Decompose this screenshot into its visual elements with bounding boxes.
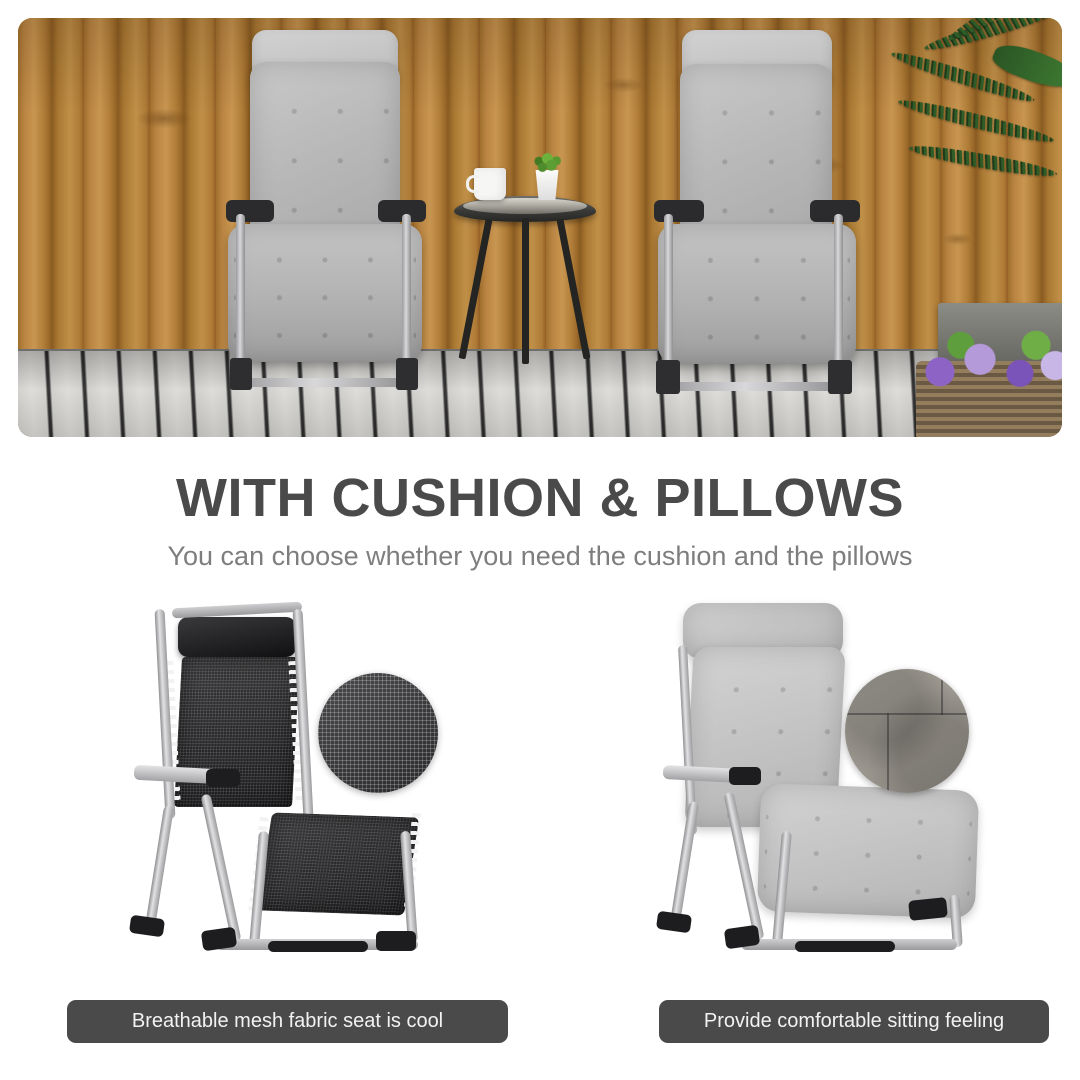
mesh-foot-right bbox=[376, 931, 416, 951]
detail-seam-vertical bbox=[887, 713, 889, 793]
caption-mesh: Breathable mesh fabric seat is cool bbox=[67, 1000, 508, 1043]
mesh-base-grip bbox=[268, 941, 368, 952]
hero-right-foot-right bbox=[828, 360, 852, 394]
hero-product-photo bbox=[18, 18, 1062, 437]
cushion-armrest-cap bbox=[729, 767, 761, 785]
mesh-leg-front bbox=[144, 805, 174, 935]
bistro-table bbox=[454, 196, 596, 368]
hero-left-frame-base bbox=[236, 378, 412, 387]
feature-panel-cushion bbox=[655, 595, 1080, 990]
detail-seam-horizontal bbox=[845, 713, 969, 715]
mesh-headrest-pillow bbox=[178, 617, 296, 657]
white-mug bbox=[474, 168, 506, 200]
cushion-fabric-detail-circle bbox=[845, 669, 969, 793]
hero-right-armrest bbox=[654, 200, 704, 222]
tufting-pattern-seat bbox=[763, 789, 973, 912]
table-leg-left bbox=[459, 219, 493, 360]
purple-flowers bbox=[908, 325, 1062, 403]
caption-mesh-label: Breathable mesh fabric seat is cool bbox=[132, 1010, 443, 1033]
hero-left-foot-left bbox=[230, 358, 252, 390]
hero-right-frame-base bbox=[664, 382, 844, 391]
mesh-seat-fabric bbox=[257, 812, 420, 915]
tufting-pattern-seat bbox=[234, 230, 416, 356]
detail-seam-vertical-2 bbox=[941, 669, 943, 715]
hero-left-foot-right bbox=[396, 358, 418, 390]
hero-left-recliner bbox=[206, 28, 436, 398]
mesh-leg-rear bbox=[201, 794, 242, 943]
page-subtitle: You can choose whether you need the cush… bbox=[0, 541, 1080, 572]
succulent-plant bbox=[534, 152, 562, 174]
hero-right-seat-cushion bbox=[658, 224, 856, 364]
hero-left-armrest bbox=[226, 200, 274, 222]
mesh-armrest-cap bbox=[206, 769, 240, 787]
caption-cushion-label: Provide comfortable sitting feeling bbox=[704, 1010, 1004, 1033]
hero-right-foot-left bbox=[656, 360, 680, 394]
tufting-pattern-seat bbox=[664, 230, 850, 358]
cushion-leg-front bbox=[669, 801, 699, 931]
hero-left-seat-cushion bbox=[228, 224, 422, 362]
mesh-recliner-illustration bbox=[120, 595, 570, 990]
hero-right-recliner bbox=[636, 28, 866, 398]
cushion-foot-left bbox=[656, 911, 692, 934]
cushion-recliner-illustration bbox=[655, 595, 1080, 990]
feature-panel-mesh bbox=[120, 595, 570, 990]
mesh-top-frame bbox=[172, 602, 302, 619]
cushion-foot-right bbox=[908, 897, 948, 921]
cushion-base-grip bbox=[795, 941, 895, 952]
table-leg-right bbox=[557, 219, 591, 360]
mesh-fabric-detail-circle bbox=[318, 673, 438, 793]
mesh-foot-left bbox=[129, 915, 165, 938]
table-glass-surface bbox=[463, 198, 588, 214]
caption-cushion: Provide comfortable sitting feeling bbox=[659, 1000, 1049, 1043]
headline-block: WITH CUSHION & PILLOWS You can choose wh… bbox=[0, 470, 1080, 572]
table-leg-center bbox=[522, 218, 529, 364]
page-title: WITH CUSHION & PILLOWS bbox=[0, 470, 1080, 527]
